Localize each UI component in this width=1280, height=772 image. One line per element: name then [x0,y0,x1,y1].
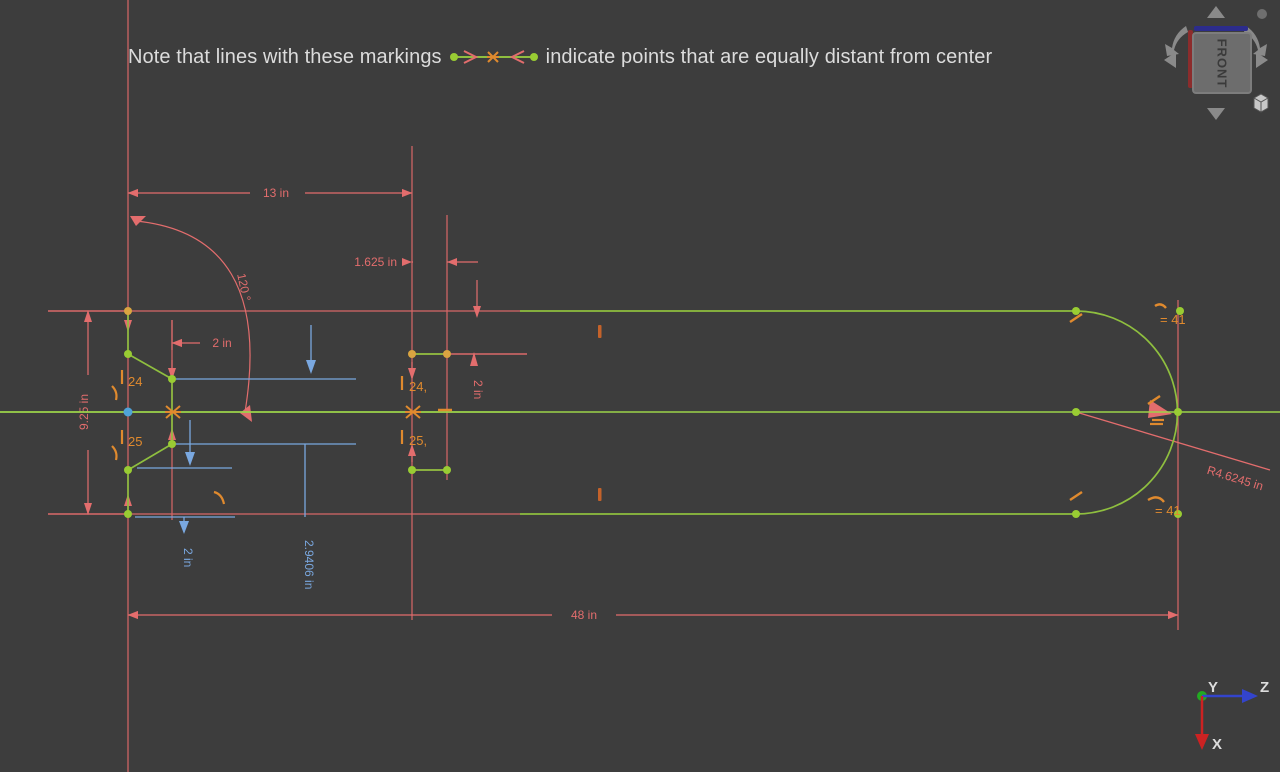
view-options-dot-icon [1257,9,1267,19]
nav-down-arrow [1207,108,1225,120]
constraint-label[interactable]: = 41 [1160,312,1186,327]
axis-triad: Y Z X [1190,678,1280,768]
constraint-label[interactable]: 25 [128,434,142,449]
view-cube-face-label: FRONT [1215,38,1230,88]
note-text-suffix: indicate points that are equally distant… [546,46,993,69]
radius-constraint-glyphs[interactable] [1070,304,1166,502]
view-cube[interactable]: FRONT [1156,2,1276,124]
parallel-tick-marks [598,325,602,501]
cube-top-edge-blue [1194,26,1248,31]
axis-label-y: Y [1208,679,1218,696]
equal-distance-marking-icon [448,48,540,66]
equal-distance-marker-left[interactable] [165,406,181,418]
note-banner: Note that lines with these markings indi… [128,38,1138,76]
equal-distance-marker-mid[interactable] [405,406,452,418]
x-axis-arrow [1195,734,1209,750]
constraint-layer[interactable]: 24 25 24, 25, = 41 = 41 [0,0,1280,772]
constraint-label[interactable]: 24 [128,374,142,389]
view-cube-front-face[interactable]: FRONT [1192,32,1252,94]
constraint-label[interactable]: 24, [409,379,427,394]
constraint-label[interactable]: 25, [409,433,427,448]
home-cube-icon [1254,94,1268,112]
cad-viewport[interactable]: 13 in 1.625 in 120 ° 2 in [0,0,1280,772]
axis-label-z: Z [1260,679,1269,696]
axis-label-x: X [1212,736,1222,753]
z-axis-arrow [1242,689,1258,703]
note-text-prefix: Note that lines with these markings [128,46,442,69]
constraint-label[interactable]: = 41 [1155,503,1181,518]
rotate-left-arrow [1165,26,1188,56]
left-constraint-bars [122,370,402,444]
nav-up-arrow [1207,6,1225,18]
